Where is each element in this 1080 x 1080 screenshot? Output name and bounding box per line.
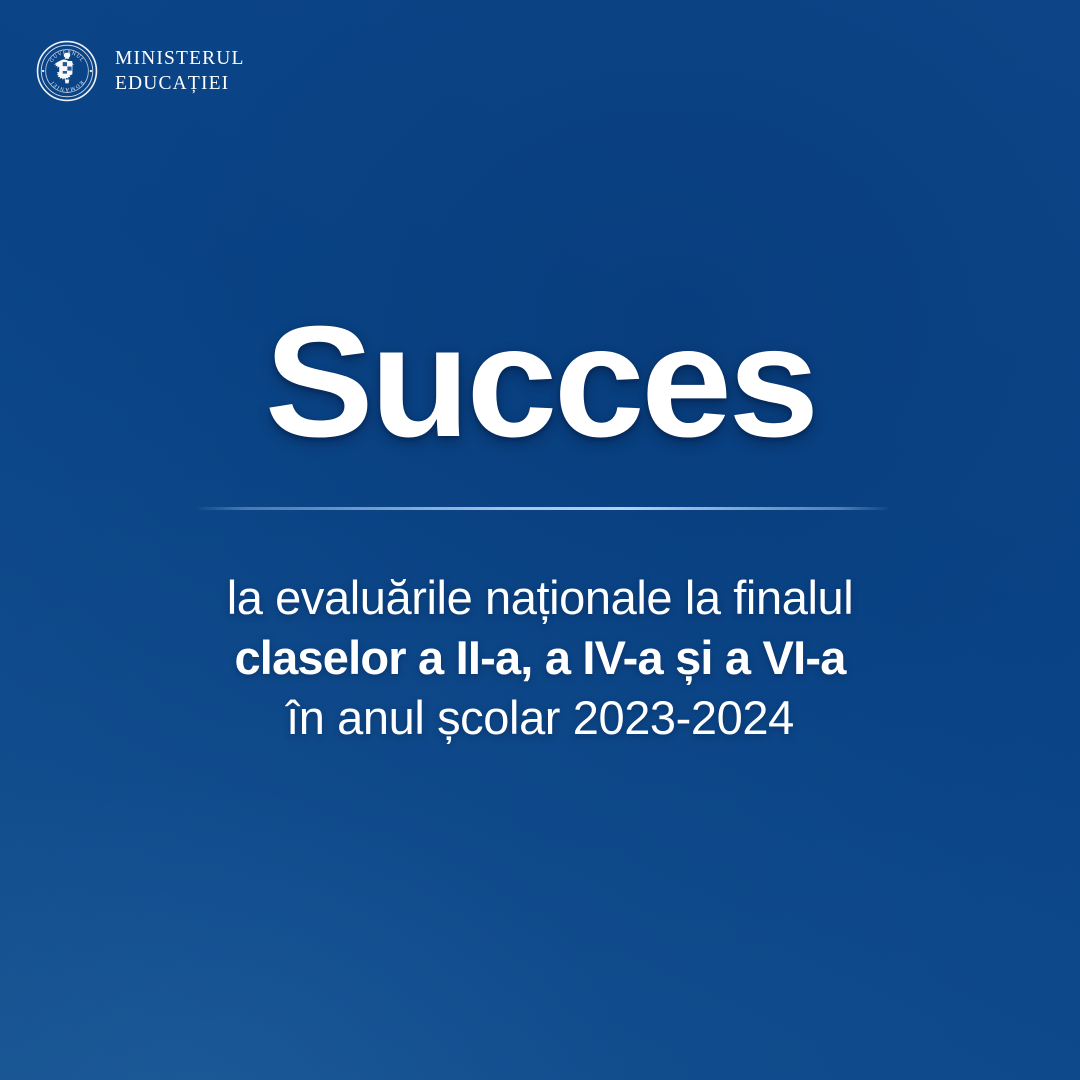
headline-text: Succes (264, 300, 815, 464)
subtitle-line-3: în anul școlar 2023-2024 (0, 688, 1080, 748)
brand-lockup: GUVERNUL ROMÂNIEI MINIS (36, 40, 245, 102)
ministry-name: MINISTERUL EDUCAȚIEI (115, 45, 245, 96)
ministry-name-line-1: MINISTERUL (115, 47, 245, 72)
subtitle-line-2: claselor a II-a, a IV-a și a VI-a (0, 628, 1080, 688)
ministry-name-line-2: EDUCAȚIEI (115, 72, 245, 97)
romanian-government-seal-icon: GUVERNUL ROMÂNIEI (36, 40, 98, 102)
subtitle-container: la evaluările naționale la finalul clase… (0, 568, 1080, 748)
headline-container: Succes (0, 300, 1080, 464)
divider-rule (196, 507, 888, 510)
subtitle-line-1: la evaluările naționale la finalul (0, 568, 1080, 628)
poster-canvas: GUVERNUL ROMÂNIEI MINIS (0, 0, 1080, 1080)
background-shade-upper-center (0, 0, 1080, 1080)
